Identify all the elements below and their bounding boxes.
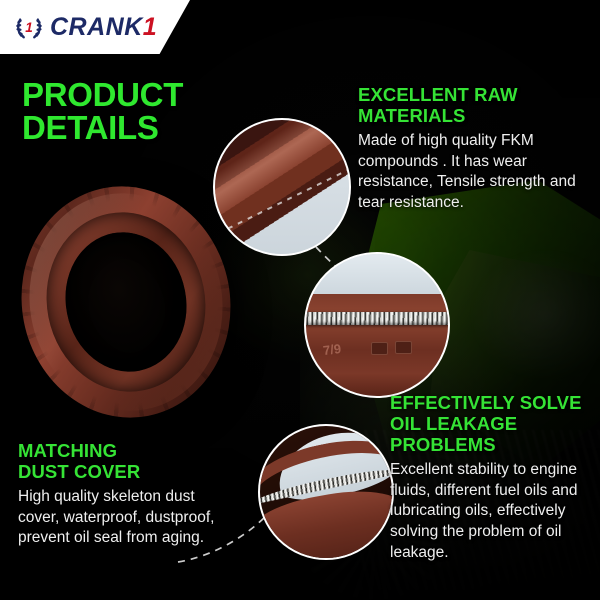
feature-heading: EFFECTIVELY SOLVE OIL LEAKAGE PROBLEMS: [390, 392, 595, 455]
feature-heading: MATCHING DUST COVER: [18, 440, 230, 482]
brand-name-one: 1: [143, 13, 157, 41]
product-details-infographic: 7/9 1: [0, 0, 600, 600]
seal-metal-spring: [304, 312, 450, 325]
seal-stamp-text: 7/9: [322, 341, 342, 358]
brand-name-crank: CRANK: [50, 13, 143, 41]
feature-effectively-solve-oil-leakage-problems: EFFECTIVELY SOLVE OIL LEAKAGE PROBLEMS E…: [390, 392, 595, 563]
feature-heading-line2: OIL LEAKAGE: [390, 413, 517, 434]
feature-excellent-raw-materials: EXCELLENT RAW MATERIALS Made of high qua…: [358, 84, 590, 214]
feature-heading-line1: MATCHING: [18, 440, 117, 461]
feature-body: High quality skeleton dust cover, waterp…: [18, 487, 230, 549]
feature-heading-line2: MATERIALS: [358, 105, 465, 126]
brand-logo-text: CRANK1: [50, 15, 157, 40]
callout-background-light: [306, 254, 448, 297]
feature-heading-line1: EFFECTIVELY SOLVE: [390, 392, 582, 413]
svg-text:1: 1: [25, 20, 33, 35]
page-title-line2: DETAILS: [22, 111, 262, 144]
page-title: PRODUCT DETAILS: [22, 78, 262, 144]
product-image-oil-seal: [2, 168, 250, 435]
feature-heading: EXCELLENT RAW MATERIALS: [358, 84, 590, 126]
feature-body: Made of high quality FKM compounds . It …: [358, 131, 590, 213]
page-title-line1: PRODUCT: [22, 78, 262, 111]
brand-header-bar: 1 CRANK1: [0, 0, 190, 54]
feature-body: Excellent stability to engine fluids, di…: [390, 460, 595, 563]
seal-mold-notch: [371, 342, 388, 355]
feature-heading-line2: DUST COVER: [18, 461, 140, 482]
seal-mold-notch: [395, 341, 412, 354]
feature-heading-line3: PROBLEMS: [390, 434, 496, 455]
feature-heading-line1: EXCELLENT RAW: [358, 84, 518, 105]
callout-seal-spring-coil-closeup: 7/9: [304, 252, 450, 398]
feature-matching-dust-cover: MATCHING DUST COVER High quality skeleto…: [18, 440, 230, 549]
laurel-wreath-icon: 1: [14, 13, 44, 41]
callout-seal-edge-closeup: [258, 424, 394, 560]
